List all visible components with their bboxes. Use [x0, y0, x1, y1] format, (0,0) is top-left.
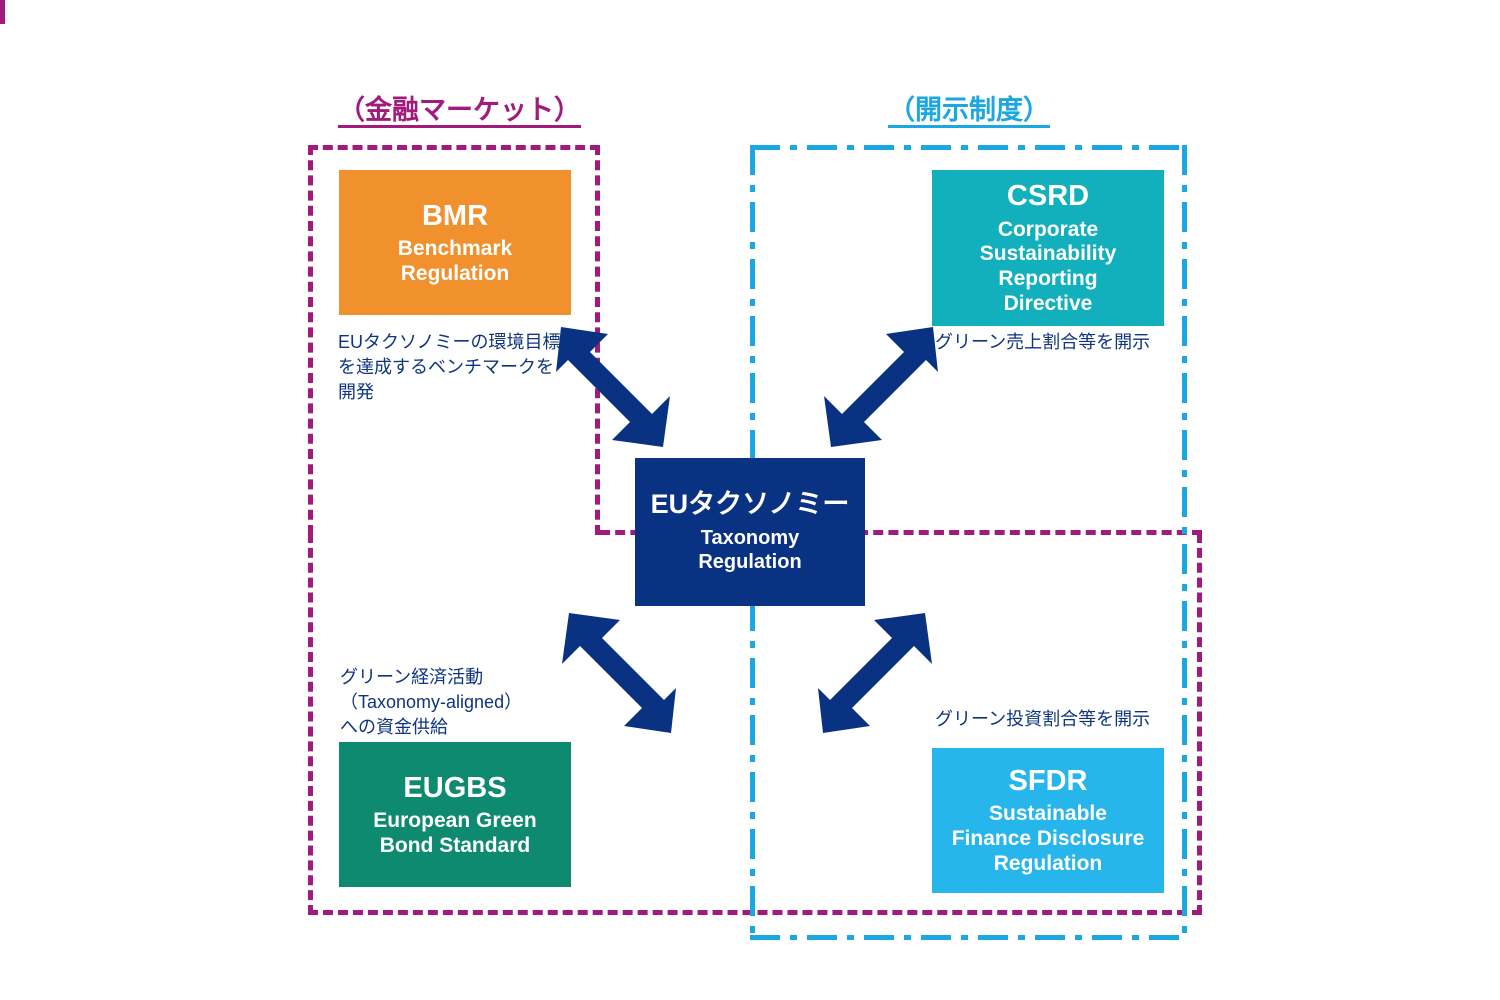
node-eugbs-fullname: European Green Bond Standard — [373, 809, 536, 859]
diagram-canvas: （金融マーケット） （開示制度） BMR Benchmark Regulatio… — [0, 0, 1500, 1000]
disclosure-region-frame-top — [750, 145, 1187, 150]
arrow-sfdr-taxonomy — [818, 608, 938, 738]
node-bmr-acronym: BMR — [422, 199, 488, 233]
market-region-frame-joint — [0, 0, 5, 24]
node-sfdr[interactable]: SFDR Sustainable Finance Disclosure Regu… — [932, 748, 1164, 893]
node-csrd-acronym: CSRD — [1007, 179, 1089, 213]
caption-csrd: グリーン売上割合等を開示 — [935, 330, 1185, 355]
node-sfdr-acronym: SFDR — [1009, 764, 1088, 798]
node-bmr-fullname: Benchmark Regulation — [398, 237, 512, 287]
disclosure-region-title: （開示制度） — [888, 88, 1050, 127]
disclosure-region-frame-right — [1182, 145, 1187, 940]
node-csrd-fullname: Corporate Sustainability Reporting Direc… — [980, 218, 1117, 317]
node-sfdr-fullname: Sustainable Finance Disclosure Regulatio… — [952, 802, 1145, 876]
node-bmr[interactable]: BMR Benchmark Regulation — [339, 170, 571, 315]
node-eugbs[interactable]: EUGBS European Green Bond Standard — [339, 742, 571, 887]
arrow-csrd-taxonomy — [818, 322, 938, 452]
node-eu-taxonomy-fullname: Taxonomy Regulation — [698, 527, 801, 574]
caption-bmr: EUタクソノミーの環境目標 を達成するベンチマークを 開発 — [338, 330, 578, 404]
node-eugbs-acronym: EUGBS — [403, 771, 506, 805]
node-eu-taxonomy[interactable]: EUタクソノミー Taxonomy Regulation — [635, 458, 865, 606]
disclosure-region-frame-bottom — [750, 935, 1187, 940]
node-csrd[interactable]: CSRD Corporate Sustainability Reporting … — [932, 170, 1164, 326]
caption-eugbs: グリーン経済活動 （Taxonomy-aligned） への資金供給 — [340, 665, 590, 739]
node-eu-taxonomy-acronym: EUタクソノミー — [651, 489, 850, 521]
market-region-title: （金融マーケット） — [338, 88, 581, 127]
caption-sfdr: グリーン投資割合等を開示 — [935, 707, 1185, 732]
